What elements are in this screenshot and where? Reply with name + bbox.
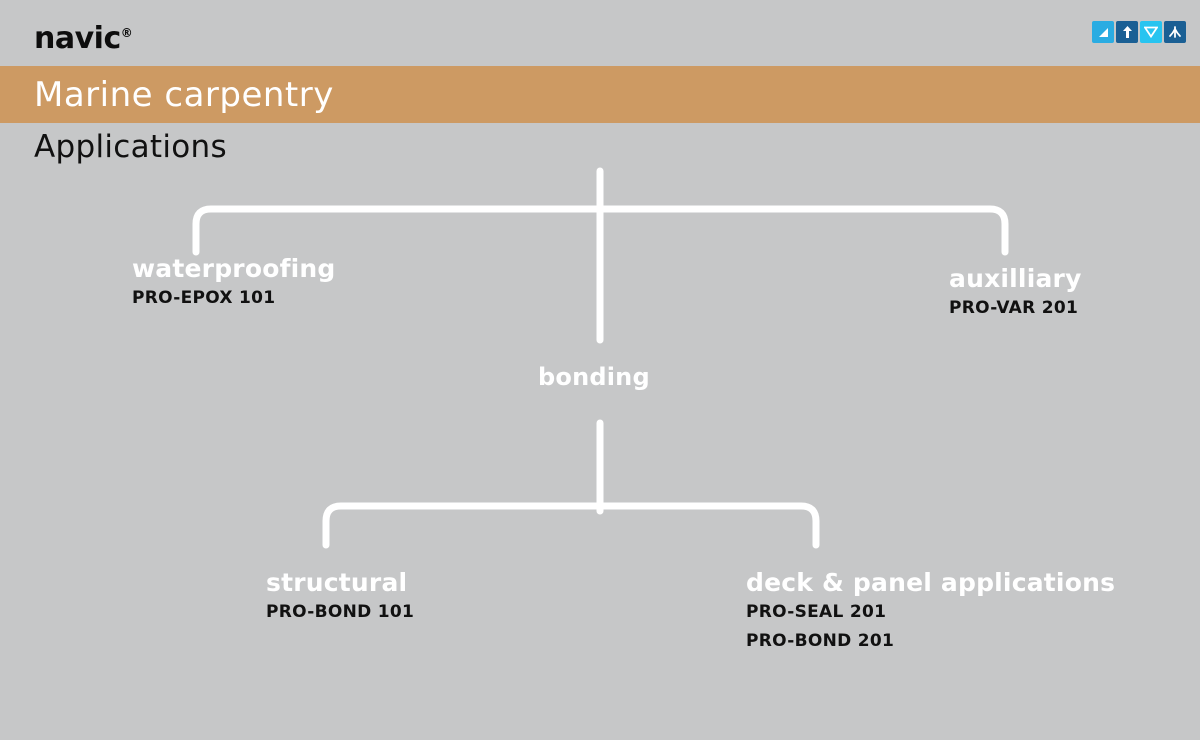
node-product-code: PRO-BOND 201 xyxy=(746,627,1115,656)
signal-triangle-icon xyxy=(1097,26,1110,39)
node-title-structural: structural xyxy=(266,568,414,598)
title-band: Marine carpentry xyxy=(0,66,1200,123)
diagram-node-bonding[interactable]: bonding xyxy=(538,362,650,392)
triangle-down-icon xyxy=(1144,26,1158,38)
diagram-node-structural[interactable]: structural PRO-BOND 101 xyxy=(266,568,414,627)
diagram-node-deck-and-panel-applications[interactable]: deck & panel applications PRO-SEAL 201 P… xyxy=(746,568,1115,656)
page-title: Marine carpentry xyxy=(34,74,334,116)
node-title-deck-and-panel-applications: deck & panel applications xyxy=(746,568,1115,598)
connector-top-bracket xyxy=(196,209,1005,252)
brand-logo: navic® xyxy=(34,16,133,56)
connector-bottom-bracket xyxy=(326,506,816,545)
node-title-auxilliary: auxilliary xyxy=(949,264,1082,294)
anchor-icon-button[interactable] xyxy=(1164,21,1186,43)
brand-logo-text: navic xyxy=(34,21,121,56)
top-bar: navic® xyxy=(0,0,1200,66)
toolbar-icon-cluster xyxy=(1092,21,1186,43)
node-title-bonding: bonding xyxy=(538,362,650,392)
node-product-code: PRO-VAR 201 xyxy=(949,294,1082,323)
arrow-up-icon-button[interactable] xyxy=(1116,21,1138,43)
signal-triangle-icon-button[interactable] xyxy=(1092,21,1114,43)
triangle-down-icon-button[interactable] xyxy=(1140,21,1162,43)
diagram-node-auxilliary[interactable]: auxilliary PRO-VAR 201 xyxy=(949,264,1082,323)
registered-mark: ® xyxy=(121,26,133,40)
node-title-waterproofing: waterproofing xyxy=(132,254,336,284)
node-product-code: PRO-EPOX 101 xyxy=(132,284,336,313)
node-product-code: PRO-SEAL 201 xyxy=(746,598,1115,627)
page-subtitle: Applications xyxy=(34,128,227,166)
node-product-code: PRO-BOND 101 xyxy=(266,598,414,627)
diagram-node-waterproofing[interactable]: waterproofing PRO-EPOX 101 xyxy=(132,254,336,313)
anchor-icon xyxy=(1168,25,1182,39)
arrow-up-icon xyxy=(1121,25,1134,39)
